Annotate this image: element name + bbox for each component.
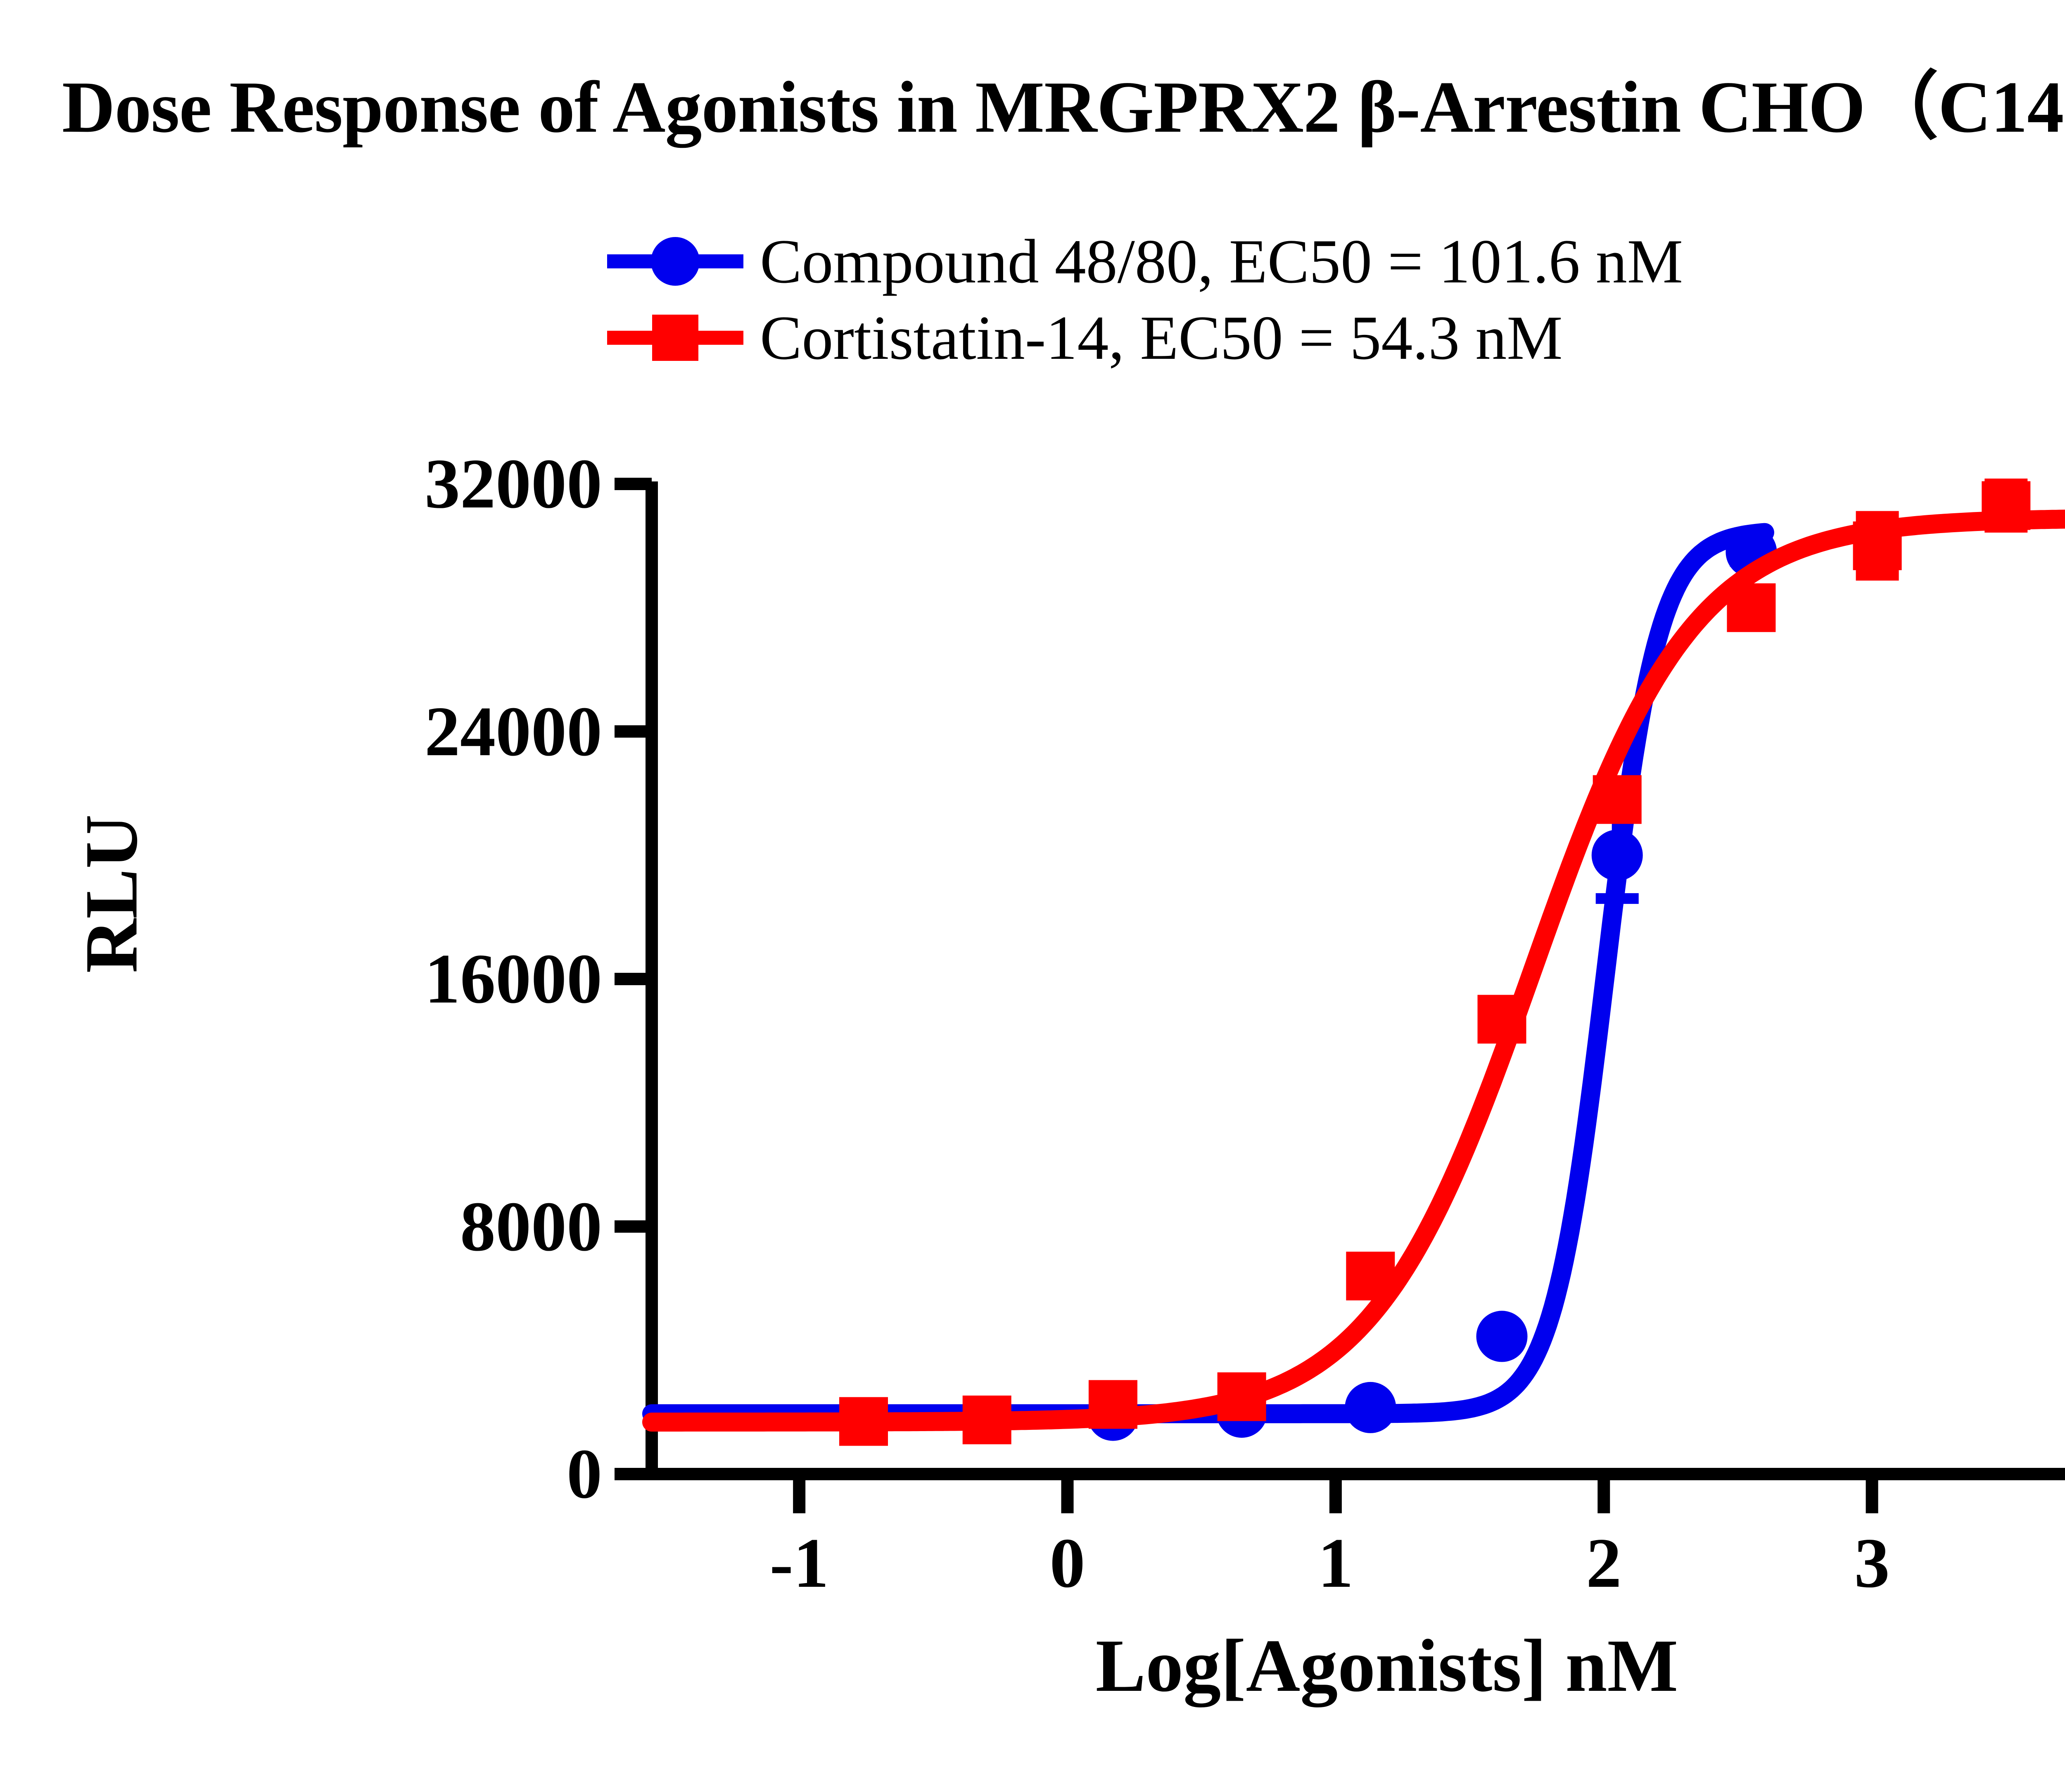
x-axis-label: Log[Agonists] nM	[652, 1623, 2065, 1709]
data-point-square[interactable]	[1727, 583, 1775, 632]
chart-legend: Compound 48/80, EC50 = 101.6 nM Cortista…	[607, 223, 1683, 376]
data-point-square[interactable]	[1089, 1380, 1137, 1429]
y-tick-label: 16000	[230, 943, 602, 1015]
legend-key-cortistatin-14	[607, 313, 743, 363]
data-point-square[interactable]	[1853, 521, 1902, 570]
x-tick-label: -1	[737, 1528, 861, 1599]
y-tick-label: 24000	[230, 696, 602, 767]
y-tick-label: 8000	[230, 1191, 602, 1262]
series-compound-48-80	[652, 526, 1777, 1441]
data-point-circle[interactable]	[1592, 830, 1643, 881]
data-point-square[interactable]	[1593, 775, 1642, 824]
data-point-circle[interactable]	[1345, 1382, 1396, 1433]
chart-title: Dose Response of Agonists in MRGPRX2 β-A…	[62, 70, 2065, 144]
data-point-circle[interactable]	[1216, 1387, 1267, 1438]
legend-label-compound-48-80: Compound 48/80, EC50 = 101.6 nM	[743, 230, 1683, 293]
y-axis-label: RLU	[69, 708, 155, 1080]
x-tick-label: 0	[1006, 1528, 1130, 1599]
series-cortistatin-14	[652, 481, 2065, 1446]
y-tick-label: 0	[230, 1439, 602, 1510]
legend-item-cortistatin-14[interactable]: Cortistatin-14, EC50 = 54.3 nM	[607, 299, 1683, 376]
legend-marker-circle-blue	[651, 237, 700, 286]
chart-root: Dose Response of Agonists in MRGPRX2 β-A…	[0, 0, 2065, 1792]
legend-marker-square-red	[652, 315, 698, 361]
data-point-square[interactable]	[1218, 1372, 1266, 1421]
data-point-circle[interactable]	[1476, 1311, 1528, 1362]
x-tick-label: 3	[1810, 1528, 1934, 1599]
data-point-square[interactable]	[1982, 481, 2030, 530]
data-point-square[interactable]	[1478, 995, 1526, 1043]
fit-curve-blue	[652, 533, 1765, 1414]
fit-curve-red	[652, 519, 2065, 1422]
x-tick-label: 2	[1542, 1528, 1666, 1599]
y-tick-label: 32000	[230, 448, 602, 519]
legend-item-compound-48-80[interactable]: Compound 48/80, EC50 = 101.6 nM	[607, 223, 1683, 299]
data-point-square[interactable]	[963, 1396, 1011, 1444]
data-point-square[interactable]	[1346, 1252, 1395, 1300]
legend-label-cortistatin-14: Cortistatin-14, EC50 = 54.3 nM	[743, 306, 1563, 369]
data-point-square[interactable]	[839, 1397, 888, 1446]
data-point-circle[interactable]	[1087, 1390, 1139, 1441]
x-tick-label: 1	[1274, 1528, 1398, 1599]
data-point-circle[interactable]	[1726, 526, 1777, 578]
legend-key-compound-48-80	[607, 237, 743, 286]
